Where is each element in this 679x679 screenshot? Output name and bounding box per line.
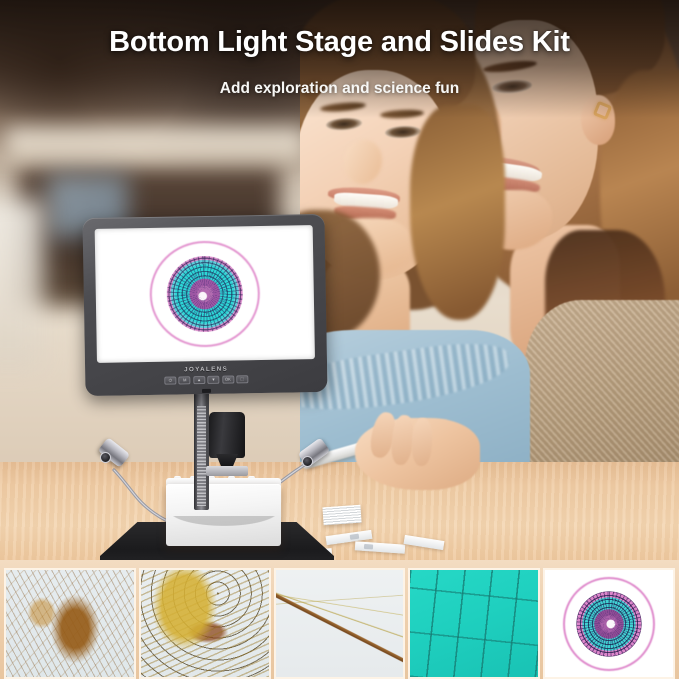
specimen-image [410,570,538,677]
thumb-insect-tissue [4,568,136,679]
child-hair-side [410,105,505,320]
slide-specimen-spot [364,544,373,550]
digital-microscope: JOYALENS ⏻ M ▲ ▼ OK ⬚ [78,216,348,556]
specimen-image [545,570,673,677]
specimen-image [141,570,269,677]
led-lamp-lens-right [302,456,313,467]
background-counter [6,128,306,164]
page-title: Bottom Light Stage and Slides Kit [0,26,679,59]
specimen-image [6,570,134,677]
led-lamp-lens-left [100,452,111,463]
focus-rack[interactable] [197,406,206,506]
product-banner: JOYALENS ⏻ M ▲ ▼ OK ⬚ Bottom Light Stage… [0,0,679,679]
thumb-bristles [274,568,406,679]
stage-shadow [172,516,276,546]
menu-button[interactable]: M [179,376,191,384]
power-button[interactable]: ⏻ [164,377,176,385]
slide-specimen-spot [350,534,360,540]
control-button-row: ⏻ M ▲ ▼ OK ⬚ [164,375,248,384]
thumb-stem-section [543,568,675,679]
mode-button[interactable]: ⬚ [236,375,248,383]
brand-logo: JOYALENS [85,364,327,375]
status-led [202,389,211,393]
thumb-plant-cells [408,568,540,679]
specimen-image [276,570,404,677]
up-button[interactable]: ▲ [193,376,205,384]
specimen-thumbnail-strip [0,560,679,679]
camera-mount-plate [206,466,248,476]
down-button[interactable]: ▼ [207,376,219,384]
lcd-monitor: JOYALENS ⏻ M ▲ ▼ OK ⬚ [82,214,327,396]
background-window [0,200,44,370]
top-vignette [0,0,679,118]
page-subtitle: Add exploration and science fun [0,80,679,98]
stem-section-rim [563,577,655,671]
thumb-insect-limb [139,568,271,679]
lcd-screen [95,225,315,363]
camera-head [209,412,245,458]
screen-specimen-rim [149,240,261,348]
ok-button[interactable]: OK [222,376,234,384]
